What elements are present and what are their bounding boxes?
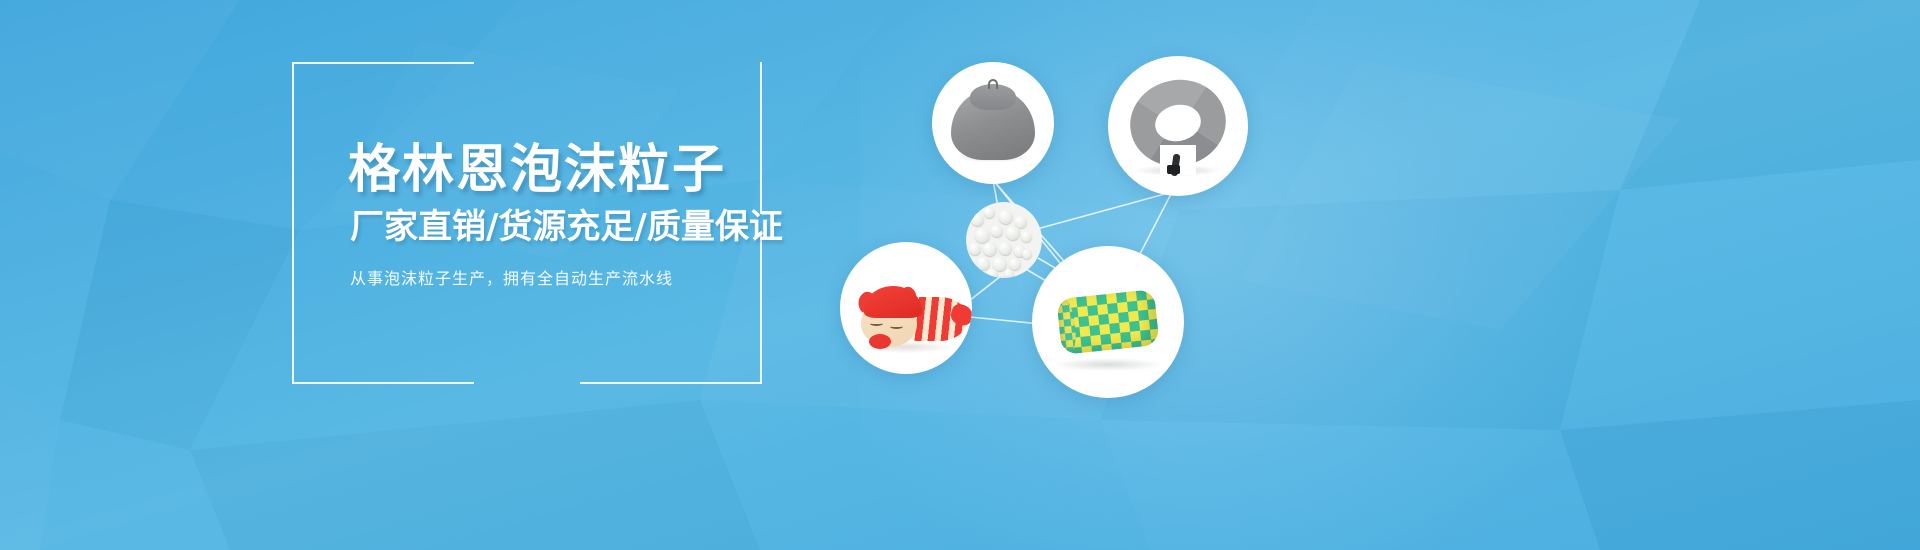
product-bubble-neck-pillow[interactable] — [1108, 56, 1248, 196]
page-title: 格林恩泡沫粒子 — [348, 144, 726, 196]
bolster-shadow — [1053, 358, 1163, 371]
product-bubble-bean-bag-chair[interactable] — [932, 62, 1054, 184]
product-bubble-foam-particles[interactable] — [966, 202, 1042, 278]
foam-particles-image — [966, 202, 1042, 278]
frame-top-left-edge — [292, 62, 474, 64]
product-cluster — [820, 20, 1340, 420]
frame-right-top-edge — [760, 62, 762, 214]
bolster-end-cap — [1056, 298, 1078, 355]
promo-banner: 格林恩泡沫粒子 厂家直销/货源充足/质量保证 从事泡沫粒子生产，拥有全自动生产流… — [0, 0, 1920, 550]
frame-right-bottom-edge — [760, 232, 762, 384]
product-bubble-checkered-bolster[interactable] — [1032, 246, 1184, 398]
frame-bottom-left-edge — [292, 382, 474, 384]
plush-animal-image — [840, 242, 972, 374]
frame-bottom-right-edge — [580, 382, 762, 384]
description-text: 从事泡沫粒子生产，拥有全自动生产流水线 — [350, 271, 673, 287]
headline-frame: 格林恩泡沫粒子 厂家直销/货源充足/质量保证 从事泡沫粒子生产，拥有全自动生产流… — [292, 62, 762, 384]
checkered-bolster-image — [1032, 246, 1184, 398]
neck-pillow-buckle — [1167, 165, 1180, 174]
neck-pillow-image — [1108, 56, 1248, 196]
bolster-body — [1056, 289, 1159, 355]
frame-left-edge — [292, 62, 294, 384]
plush-eye-right — [890, 324, 903, 329]
product-bubble-plush-animal-pillow[interactable] — [840, 242, 972, 374]
bean-bag-handle — [988, 79, 998, 89]
bean-bag-chair-image — [932, 62, 1054, 184]
subtitle: 厂家直销/货源充足/质量保证 — [350, 210, 783, 244]
